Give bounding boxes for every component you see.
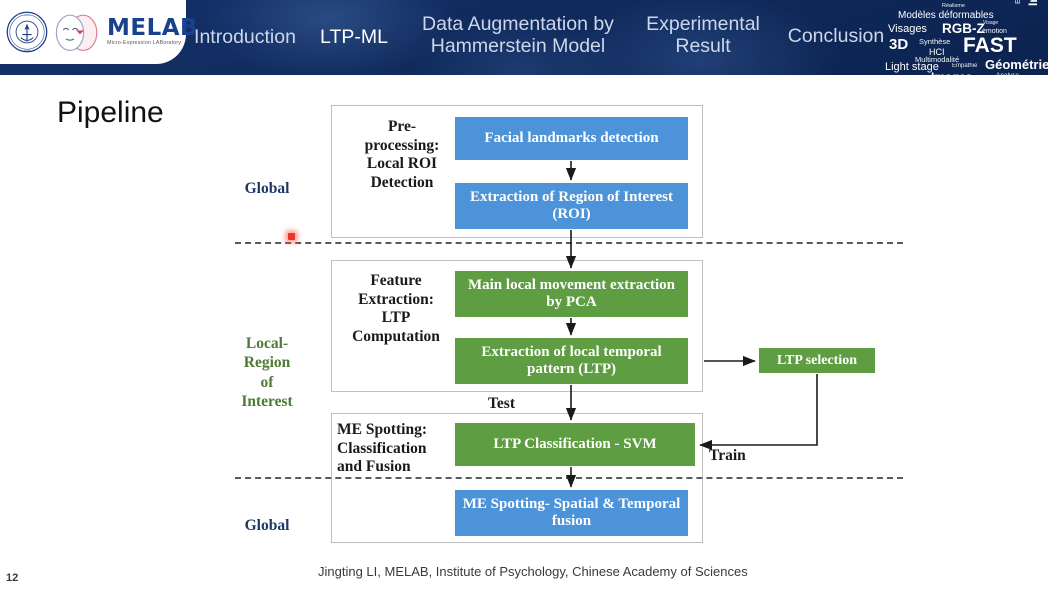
side-label-local-region: Local- Region of Interest (231, 334, 303, 412)
melab-wordmark: MELAB Micro-Expression LABoratory (107, 17, 198, 46)
nav-item-ltp-ml[interactable]: LTP-ML (308, 27, 400, 49)
stage-label-feature-extraction: Feature Extraction: LTP Computation (340, 272, 452, 346)
melab-tagline: Micro-Expression LABoratory (107, 41, 198, 46)
stage-label-me-spotting: ME Spotting: Classification and Fusion (337, 421, 459, 477)
nav-item-data-augmentation[interactable]: Data Augmentation by Hammerstein Model (404, 14, 632, 58)
side-label-global-top: Global (231, 179, 303, 198)
flow-label-train: Train (709, 447, 746, 465)
slide-header-bar: •••••••• •••••• MELAB Micro-Expression L… (0, 0, 1048, 75)
process-box-me-spotting-fusion[interactable]: ME Spotting- Spatial & Temporal fusion (455, 490, 688, 536)
wordcloud-word: Modèles déformables (898, 10, 994, 21)
wordcloud-word: Empathie (952, 63, 977, 69)
page-title: Pipeline (57, 96, 164, 130)
process-box-main-local-movement-extraction[interactable]: Main local movement extraction by PCA (455, 271, 688, 317)
wordcloud-word: FAST (963, 34, 1017, 58)
melab-brand-text: MELAB (107, 17, 198, 40)
wordcloud-word: Visage (983, 20, 998, 26)
svg-text:••••••••: •••••••• (23, 14, 30, 17)
process-box-extraction-of-roi[interactable]: Extraction of Region of Interest (ROI) (455, 183, 688, 229)
wordcloud-word: Réalisme (942, 3, 965, 9)
stage-label-preprocessing: Pre- processing: Local ROI Detection (352, 118, 452, 192)
fast-wordcloud-logo: RéalismeModèles déformablesVisagesRGB-ZV… (884, 2, 1048, 74)
svg-text:••••••: •••••• (24, 49, 29, 52)
side-label-global-bottom: Global (231, 516, 303, 535)
wordcloud-word: Images (931, 70, 972, 75)
wordcloud-word: 3D (889, 36, 908, 53)
footer-credit: Jingting LI, MELAB, Institute of Psychol… (318, 564, 748, 579)
wordcloud-word: Visages (888, 23, 927, 35)
process-box-facial-landmarks-detection[interactable]: Facial landmarks detection (455, 117, 688, 160)
process-box-extraction-of-ltp[interactable]: Extraction of local temporal pattern (LT… (455, 338, 688, 384)
nav-item-conclusion[interactable]: Conclusion (774, 26, 898, 48)
wordcloud-word: Géométrie (985, 57, 1048, 72)
process-box-ltp-selection[interactable]: LTP selection (759, 348, 875, 373)
melab-faces-icon (52, 12, 104, 52)
flow-label-test: Test (488, 395, 515, 413)
wordcloud-word: Analyse (996, 72, 1019, 75)
separator-dashed-bottom (235, 477, 903, 479)
laser-pointer-dot (288, 233, 295, 240)
cas-seal-icon: •••••••• •••••• (6, 11, 48, 53)
separator-dashed-top (235, 242, 903, 244)
process-box-ltp-classification-svm[interactable]: LTP Classification - SVM (455, 423, 695, 466)
logo-panel: •••••••• •••••• MELAB Micro-Expression L… (0, 0, 186, 64)
nav-item-experimental-result[interactable]: Experimental Result (634, 14, 772, 58)
wordcloud-word: Expression (1015, 0, 1022, 4)
wordcloud-word: Interaction (1026, 0, 1040, 6)
slide-number: 12 (6, 572, 18, 584)
nav-item-introduction[interactable]: Introduction (186, 27, 304, 49)
wordcloud-word: Synthèse (919, 37, 950, 46)
